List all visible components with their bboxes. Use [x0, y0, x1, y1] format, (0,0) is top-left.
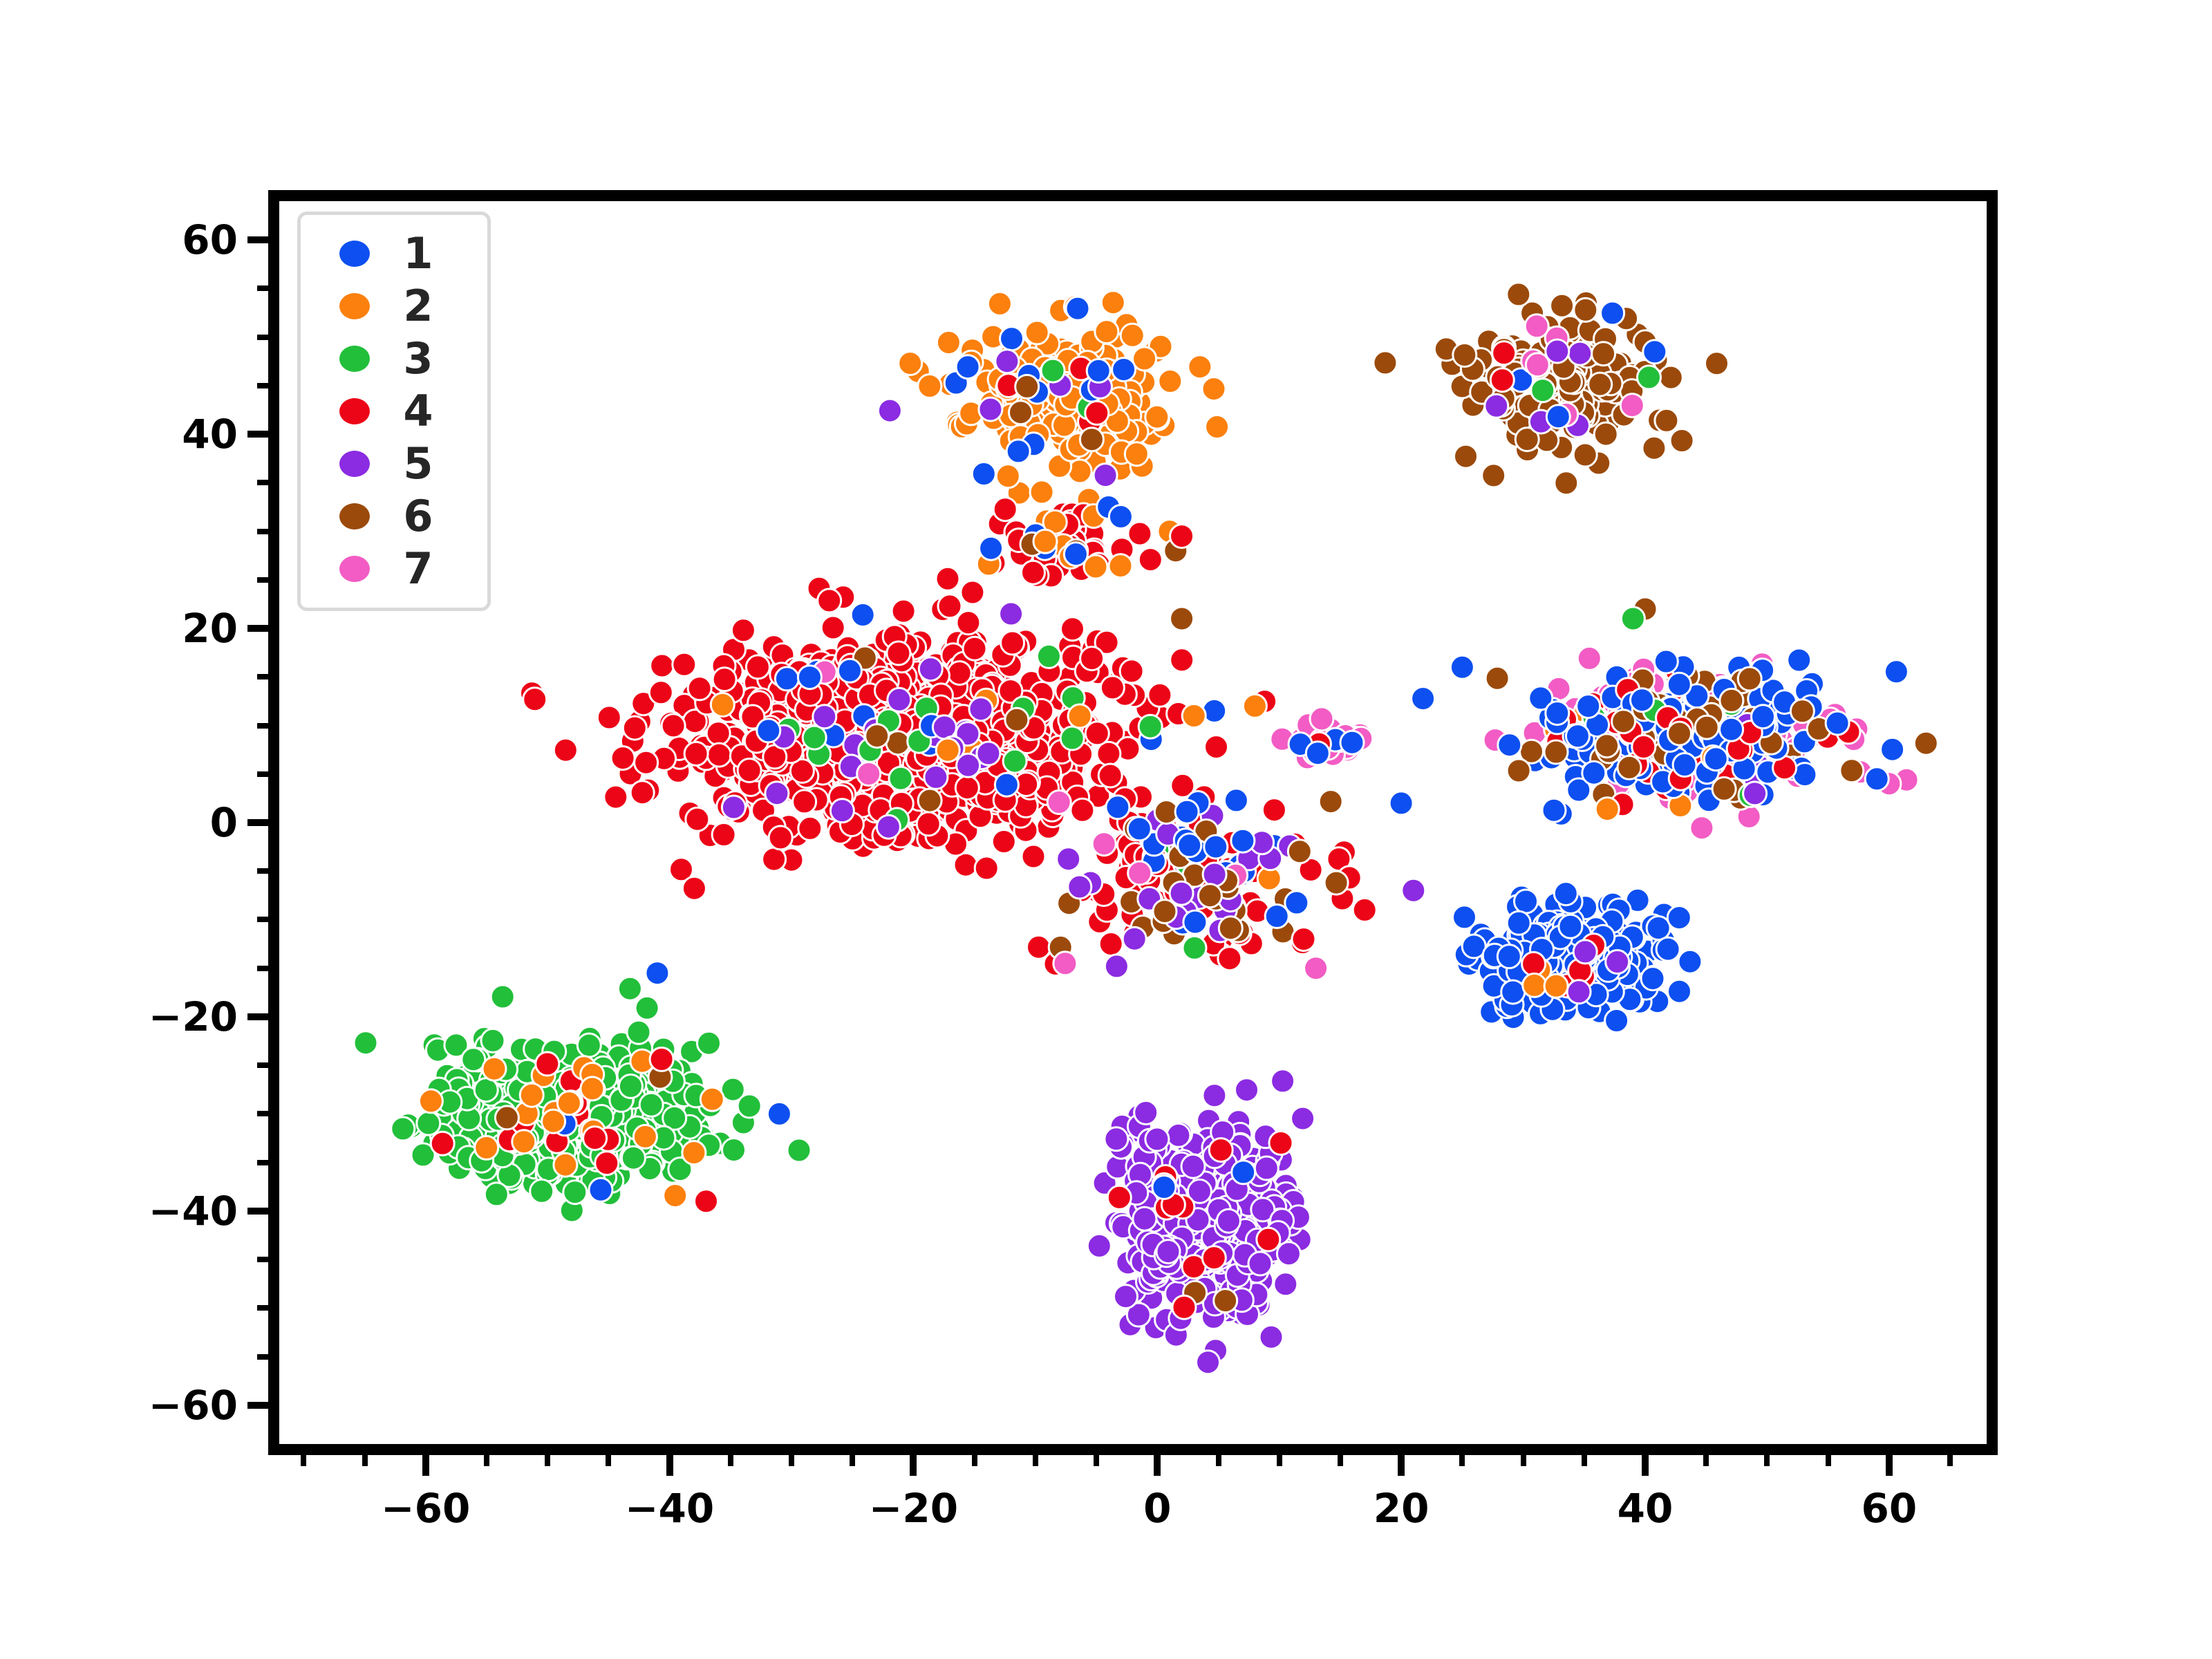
y-tick-major	[247, 1402, 268, 1409]
scatter-point	[682, 1141, 706, 1165]
scatter-point	[1057, 847, 1080, 871]
scatter-point	[611, 747, 635, 770]
scatter-point	[1025, 321, 1049, 344]
scatter-point	[481, 1029, 505, 1052]
scatter-point	[1183, 936, 1206, 959]
scatter-point	[1592, 342, 1615, 366]
scatter-point	[707, 743, 731, 767]
scatter-point	[1881, 738, 1904, 761]
scatter-point	[650, 654, 674, 677]
scatter-point	[1182, 704, 1206, 728]
scatter-point	[1554, 882, 1577, 906]
scatter-point	[1087, 359, 1110, 382]
x-tick-minor	[1947, 1455, 1953, 1466]
scatter-point	[589, 1178, 612, 1201]
y-tick-label: −20	[149, 997, 238, 1037]
scatter-point	[1120, 659, 1143, 683]
scatter-point	[1000, 602, 1023, 626]
y-tick-minor	[257, 1354, 268, 1360]
scatter-point	[530, 1179, 554, 1203]
scatter-point	[1450, 655, 1474, 679]
scatter-point	[688, 677, 711, 700]
scatter-plot-area	[279, 201, 1987, 1444]
scatter-point	[1109, 554, 1132, 578]
scatter-point	[1574, 298, 1597, 321]
scatter-point	[1205, 735, 1228, 759]
scatter-point	[1015, 375, 1039, 398]
scatter-point	[1492, 341, 1516, 365]
scatter-point	[918, 375, 941, 398]
x-tick-minor	[728, 1455, 733, 1466]
scatter-point	[1269, 1132, 1293, 1155]
scatter-point	[1005, 708, 1029, 731]
scatter-point	[1507, 759, 1530, 782]
scatter-point	[995, 350, 1019, 373]
scatter-point	[1133, 1207, 1156, 1230]
scatter-point	[1006, 440, 1030, 463]
scatter-point	[1255, 1156, 1278, 1180]
scatter-point	[1620, 394, 1644, 418]
scatter-point	[1123, 927, 1146, 950]
y-tick-major	[247, 1208, 268, 1215]
scatter-point	[1181, 1154, 1205, 1178]
scatter-point	[1109, 505, 1132, 529]
scatter-point	[354, 1031, 377, 1055]
scatter-point	[1595, 798, 1619, 821]
scatter-point	[695, 1190, 718, 1213]
x-tick-major	[910, 1455, 917, 1476]
scatter-point	[706, 722, 730, 745]
legend-item-3[interactable]: 3	[301, 332, 487, 385]
legend-marker-icon	[339, 293, 370, 319]
scatter-point	[1454, 444, 1478, 468]
scatter-point	[1568, 341, 1592, 365]
y-tick-major	[247, 236, 268, 243]
scatter-point	[1389, 791, 1413, 815]
scatter-point	[1138, 548, 1162, 572]
scatter-point	[431, 1132, 454, 1155]
scatter-point	[1577, 695, 1600, 718]
x-tick-label: −60	[381, 1488, 470, 1528]
scatter-point	[563, 1181, 587, 1204]
scatter-point	[1060, 727, 1084, 750]
scatter-point	[1743, 782, 1767, 805]
x-tick-minor	[1582, 1455, 1587, 1466]
scatter-point	[1324, 871, 1348, 894]
scatter-point	[557, 1091, 581, 1115]
scatter-point	[1914, 731, 1938, 755]
scatter-point	[1550, 294, 1574, 317]
scatter-point	[1485, 666, 1509, 690]
scatter-point	[1087, 1234, 1111, 1257]
scatter-point	[1178, 834, 1201, 857]
legend-marker-icon	[339, 556, 370, 582]
scatter-point	[485, 1183, 508, 1206]
legend-item-5[interactable]: 5	[301, 438, 487, 490]
scatter-point	[992, 830, 1015, 854]
scatter-point	[1159, 370, 1182, 393]
scatter-point	[1690, 816, 1714, 840]
scatter-point	[1482, 464, 1506, 487]
scatter-point	[1235, 1078, 1259, 1102]
scatter-point	[1285, 891, 1309, 915]
scatter-point	[1047, 791, 1071, 814]
y-tick-minor	[257, 966, 268, 971]
scatter-point	[583, 1127, 607, 1150]
scatter-point	[621, 1146, 645, 1170]
scatter-point	[1865, 767, 1888, 791]
scatter-point	[821, 616, 845, 639]
scatter-point	[1068, 875, 1091, 899]
y-tick-label: −40	[149, 1191, 238, 1231]
scatter-point	[1498, 733, 1521, 757]
scatter-point	[722, 796, 745, 819]
scatter-point	[1542, 798, 1566, 822]
scatter-point	[738, 759, 761, 782]
scatter-point	[1145, 405, 1169, 429]
scatter-point	[491, 985, 514, 1009]
y-tick-label: 0	[210, 803, 238, 843]
scatter-point	[1101, 291, 1125, 315]
y-tick-minor	[257, 1257, 268, 1262]
scatter-point	[1053, 952, 1077, 975]
scatter-point	[1544, 740, 1568, 764]
scatter-point	[1720, 688, 1743, 712]
scatter-point	[474, 1078, 498, 1102]
scatter-point	[924, 765, 948, 789]
scatter-point	[877, 815, 900, 838]
scatter-point	[1170, 607, 1194, 630]
legend-item-4[interactable]: 4	[301, 385, 487, 438]
scatter-point	[1402, 879, 1425, 902]
x-tick-label: 60	[1861, 1488, 1917, 1528]
scatter-point	[1217, 1209, 1240, 1232]
scatter-point	[1291, 1107, 1315, 1130]
scatter-point	[1003, 749, 1027, 773]
scatter-point	[1094, 464, 1117, 487]
scatter-point	[857, 762, 881, 786]
y-tick-major	[247, 1013, 268, 1020]
scatter-point	[1106, 796, 1130, 819]
scatter-point	[627, 1020, 650, 1044]
scatter-point	[495, 1106, 518, 1130]
scatter-point	[757, 719, 780, 742]
legend-marker-icon	[339, 503, 370, 529]
scatter-point	[731, 619, 755, 642]
scatter-point	[1453, 906, 1477, 929]
legend-item-7[interactable]: 7	[301, 543, 487, 595]
scatter-point	[722, 1138, 746, 1162]
scatter-point	[1061, 617, 1085, 641]
scatter-point	[762, 847, 786, 871]
scatter-point	[1000, 327, 1024, 350]
scatter-point	[1188, 355, 1212, 379]
scatter-point	[1203, 863, 1226, 886]
scatter-point	[918, 789, 941, 812]
y-tick-minor	[257, 529, 268, 534]
scatter-point	[838, 659, 861, 682]
scatter-point	[619, 1075, 642, 1098]
scatter-point	[1152, 1176, 1176, 1199]
scatter-point	[630, 781, 654, 805]
scatter-point	[712, 823, 735, 847]
scatter-point	[1606, 950, 1629, 974]
scatter-point	[865, 724, 889, 748]
y-tick-minor	[257, 577, 268, 583]
scatter-point	[1566, 724, 1589, 748]
scatter-point	[767, 1102, 791, 1125]
scatter-point	[1582, 761, 1606, 785]
scatter-point	[1112, 358, 1136, 382]
scatter-point	[1621, 607, 1644, 630]
scatter-point	[1156, 1240, 1180, 1264]
scatter-point	[1668, 722, 1691, 745]
scatter-point	[938, 594, 962, 618]
scatter-point	[1121, 324, 1144, 347]
scatter-point	[1175, 800, 1199, 823]
scatter-point	[1022, 561, 1045, 584]
scatter-point	[1209, 1138, 1232, 1162]
scatter-point	[1678, 950, 1702, 973]
scatter-point	[1523, 973, 1546, 997]
scatter-point	[649, 681, 673, 704]
scatter-point	[1231, 829, 1255, 852]
scatter-point	[1095, 320, 1118, 344]
scatter-point	[1567, 980, 1591, 1004]
scatter-point	[711, 693, 734, 717]
legend-marker-icon	[339, 346, 370, 372]
x-tick-minor	[1277, 1455, 1282, 1466]
scatter-point	[851, 603, 874, 627]
scatter-point	[1612, 710, 1635, 733]
scatter-point	[1114, 1285, 1138, 1309]
scatter-point	[1531, 379, 1555, 402]
scatter-point	[787, 1138, 811, 1162]
scatter-point	[686, 807, 709, 831]
scatter-point	[1310, 707, 1333, 731]
scatter-point	[1066, 297, 1089, 320]
scatter-point	[996, 465, 1020, 488]
scatter-point	[1501, 980, 1525, 1004]
x-tick-label: 20	[1374, 1488, 1430, 1528]
scatter-point	[1248, 1252, 1272, 1275]
scatter-point	[1577, 646, 1601, 670]
scatter-point	[1555, 471, 1578, 495]
scatter-point	[798, 666, 821, 689]
y-tick-minor	[257, 1062, 268, 1068]
scatter-point	[975, 856, 998, 880]
legend-item-1[interactable]: 1	[301, 227, 487, 280]
x-tick-major	[1886, 1455, 1893, 1476]
legend-item-label: 3	[370, 337, 487, 380]
scatter-point	[1214, 1289, 1237, 1313]
scatter-point	[1071, 798, 1094, 822]
scatter-point	[956, 355, 980, 379]
scatter-point	[1544, 974, 1568, 997]
scatter-point	[1259, 1325, 1283, 1349]
scatter-point	[664, 1184, 687, 1208]
scatter-point	[1546, 702, 1569, 725]
scatter-point	[662, 714, 685, 738]
scatter-point	[963, 637, 986, 660]
scatter-point	[1642, 436, 1666, 460]
x-tick-minor	[362, 1455, 368, 1466]
scatter-point	[1219, 917, 1242, 940]
scatter-point	[1546, 339, 1569, 363]
y-tick-minor	[257, 674, 268, 679]
scatter-point	[1170, 648, 1194, 672]
scatter-point	[1668, 980, 1691, 1003]
scatter-point	[1092, 832, 1116, 856]
scatter-point	[1573, 940, 1597, 964]
y-tick-label: 40	[182, 414, 238, 454]
x-tick-label: 40	[1618, 1488, 1674, 1528]
scatter-point	[604, 785, 628, 809]
scatter-point	[697, 1031, 721, 1055]
scatter-point	[988, 292, 1011, 315]
scatter-point	[1128, 522, 1152, 545]
scatter-point	[1588, 373, 1612, 396]
scatter-point	[793, 790, 816, 814]
scatter-point	[1197, 1351, 1220, 1374]
scatter-point	[1170, 525, 1194, 548]
legend-item-label: 7	[370, 547, 487, 590]
scatter-point	[803, 726, 826, 749]
scatter-point	[1257, 1228, 1280, 1251]
legend-item-6[interactable]: 6	[301, 490, 487, 543]
scatter-point	[1292, 928, 1315, 951]
scatter-point	[888, 688, 911, 711]
scatter-point	[646, 962, 669, 985]
scatter-point	[892, 599, 915, 623]
scatter-point	[917, 812, 940, 836]
scatter-point	[1712, 777, 1736, 800]
scatter-point	[1559, 915, 1582, 938]
scatter-point	[1170, 881, 1193, 905]
scatter-point	[1138, 715, 1162, 738]
y-tick-minor	[257, 917, 268, 922]
scatter-point	[1631, 688, 1654, 712]
scatter-point	[554, 738, 577, 762]
y-tick-minor	[257, 1111, 268, 1116]
y-tick-minor	[257, 480, 268, 485]
scatter-point	[972, 462, 995, 486]
scatter-point	[1304, 957, 1328, 980]
legend-item-label: 2	[370, 285, 487, 328]
scatter-point	[1127, 817, 1151, 841]
x-tick-major	[1398, 1455, 1405, 1476]
scatter-point	[1198, 884, 1221, 908]
scatter-point	[1271, 1069, 1295, 1093]
scatter-point	[1153, 900, 1177, 924]
y-tick-minor	[257, 868, 268, 874]
scatter-point	[937, 331, 960, 355]
scatter-point	[417, 1112, 440, 1135]
scatter-point	[746, 655, 769, 679]
x-tick-minor	[1216, 1455, 1221, 1466]
scatter-point	[1667, 906, 1691, 930]
scatter-point	[957, 611, 980, 635]
scatter-point	[581, 1077, 604, 1100]
x-tick-label: 0	[1143, 1488, 1171, 1528]
scatter-point	[1274, 1273, 1297, 1296]
scatter-point	[1720, 718, 1743, 741]
scatter-point	[995, 773, 1018, 796]
x-tick-minor	[1764, 1455, 1770, 1466]
scatter-point	[1738, 667, 1761, 691]
x-tick-minor	[301, 1455, 306, 1466]
scatter-point	[523, 688, 547, 711]
scatter-point	[1605, 1009, 1629, 1033]
scatter-point	[830, 799, 854, 823]
scatter-point	[1009, 401, 1033, 424]
scatter-point	[1099, 932, 1123, 956]
scatter-point	[818, 589, 841, 612]
x-tick-minor	[1033, 1455, 1038, 1466]
scatter-point	[961, 581, 984, 604]
scatter-point	[899, 352, 922, 375]
scatter-point	[700, 1087, 724, 1111]
legend-item-2[interactable]: 2	[301, 280, 487, 332]
scatter-point	[738, 1094, 761, 1118]
scatter-point	[1080, 428, 1103, 451]
scatter-point	[1128, 861, 1152, 885]
scatter-point	[639, 1093, 663, 1116]
scatter-point	[1659, 366, 1683, 389]
scatter-point	[1306, 742, 1329, 765]
y-tick-minor	[257, 1160, 268, 1165]
scatter-point	[1595, 734, 1619, 758]
scatter-point	[1656, 937, 1680, 961]
y-tick-label: 60	[182, 220, 238, 260]
scatter-point	[1643, 340, 1667, 364]
scatter-point	[618, 977, 641, 1000]
scatter-point	[577, 1033, 601, 1057]
scatter-point	[1041, 359, 1065, 382]
scatter-point	[597, 706, 621, 729]
scatter-point	[1507, 283, 1530, 306]
tsne-scatter-figure: −60−40−200204060−60−40−200204060 1234567	[0, 0, 2212, 1659]
x-tick-minor	[484, 1455, 489, 1466]
scatter-svg	[279, 201, 1987, 1444]
scatter-point	[713, 668, 736, 691]
scatter-point	[1673, 753, 1696, 777]
scatter-point	[775, 667, 798, 691]
scatter-point	[595, 1152, 619, 1175]
scatter-point	[684, 742, 708, 765]
scatter-point	[1546, 405, 1570, 429]
scatter-point	[979, 397, 1002, 421]
scatter-point	[554, 1153, 577, 1177]
scatter-point	[673, 653, 696, 676]
legend-item-label: 1	[370, 232, 487, 275]
scatter-point	[1085, 722, 1109, 745]
scatter-point	[1080, 647, 1104, 671]
scatter-point	[969, 697, 993, 721]
scatter-point	[1654, 650, 1678, 673]
scatter-point	[1167, 1123, 1190, 1147]
y-tick-label: −60	[149, 1385, 238, 1425]
scatter-point	[1262, 798, 1286, 822]
scatter-point	[419, 1089, 442, 1113]
scatter-point	[1695, 715, 1718, 739]
scatter-point	[1515, 890, 1538, 913]
scatter-point	[623, 716, 646, 740]
scatter-point	[887, 641, 910, 665]
scatter-point	[1647, 917, 1670, 940]
scatter-point	[1618, 756, 1641, 779]
scatter-point	[1148, 683, 1172, 706]
